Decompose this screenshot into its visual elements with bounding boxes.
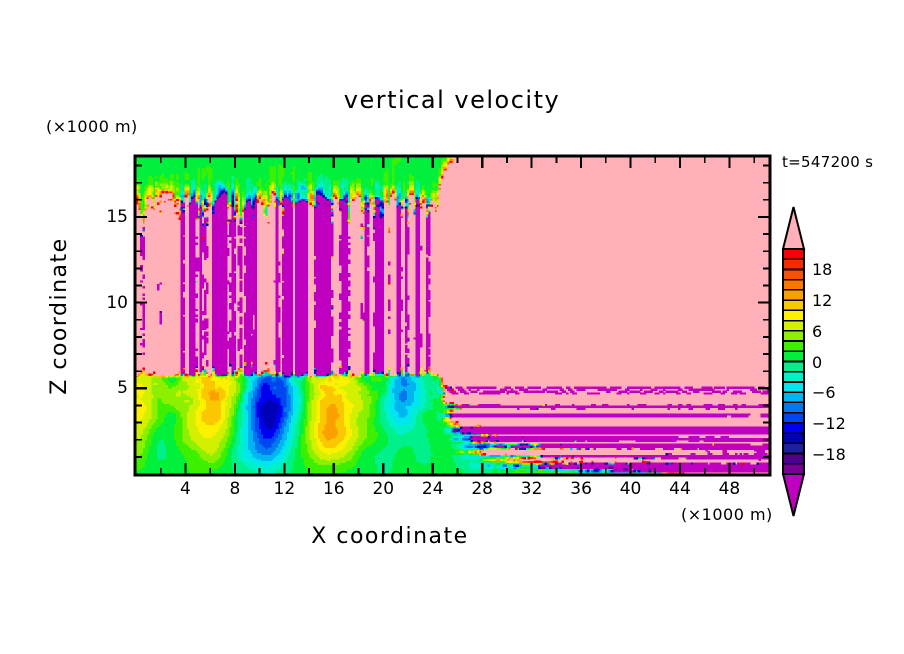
colorbar-band <box>783 443 804 454</box>
colorbar-band <box>783 454 804 465</box>
colorbar <box>777 199 810 524</box>
colorbar-band <box>783 290 804 301</box>
colorbar-band <box>783 341 804 352</box>
x-tick-label: 28 <box>462 479 502 499</box>
x-tick-label: 36 <box>561 479 601 499</box>
colorbar-band <box>783 433 804 444</box>
colorbar-band <box>783 382 804 393</box>
colorbar-band <box>783 423 804 434</box>
plot-border <box>135 156 770 475</box>
y-tick-label: 15 <box>94 207 128 227</box>
colorbar-band <box>783 362 804 373</box>
colorbar-tick-label: 0 <box>812 353 868 372</box>
x-tick-label: 8 <box>215 479 255 499</box>
x-tick-label: 12 <box>264 479 304 499</box>
colorbar-band <box>783 310 804 321</box>
colorbar-tick-label: 12 <box>812 291 868 310</box>
colorbar-tick-label: −12 <box>812 414 868 433</box>
plot-frame-and-ticks <box>128 149 777 482</box>
y-tick-label: 5 <box>94 378 128 398</box>
colorbar-band <box>783 464 804 475</box>
x-tick-label: 4 <box>165 479 205 499</box>
colorbar-band <box>783 392 804 403</box>
colorbar-band <box>783 402 804 413</box>
y-axis-units-label: (×1000 m) <box>46 117 138 136</box>
colorbar-tick-label: −6 <box>812 383 868 402</box>
x-tick-label: 20 <box>363 479 403 499</box>
colorbar-band <box>783 351 804 362</box>
colorbar-tick-label: 18 <box>812 260 868 279</box>
figure-canvas: vertical velocity (×1000 m) t=547200 s 4… <box>0 0 904 654</box>
colorbar-band <box>783 413 804 424</box>
colorbar-over-arrow <box>783 207 804 249</box>
colorbar-band <box>783 372 804 383</box>
colorbar-tick-label: 6 <box>812 322 868 341</box>
colorbar-band <box>783 249 804 260</box>
x-axis-units-label: (×1000 m) <box>681 505 773 524</box>
x-tick-label: 16 <box>314 479 354 499</box>
y-tick-label: 10 <box>94 293 128 313</box>
x-tick-label: 48 <box>709 479 749 499</box>
colorbar-band <box>783 321 804 332</box>
x-tick-label: 24 <box>413 479 453 499</box>
colorbar-under-arrow <box>783 474 804 516</box>
colorbar-band <box>783 259 804 270</box>
x-tick-label: 44 <box>660 479 700 499</box>
colorbar-tick-label: −18 <box>812 445 868 464</box>
x-axis-title: X coordinate <box>0 524 780 549</box>
colorbar-band <box>783 300 804 311</box>
timestamp-annotation: t=547200 s <box>782 153 873 171</box>
x-tick-label: 40 <box>611 479 651 499</box>
colorbar-band <box>783 280 804 291</box>
colorbar-band <box>783 331 804 342</box>
colorbar-band <box>783 269 804 280</box>
page-title: vertical velocity <box>0 86 904 114</box>
y-axis-title: Z coordinate <box>47 216 72 416</box>
x-tick-label: 32 <box>512 479 552 499</box>
